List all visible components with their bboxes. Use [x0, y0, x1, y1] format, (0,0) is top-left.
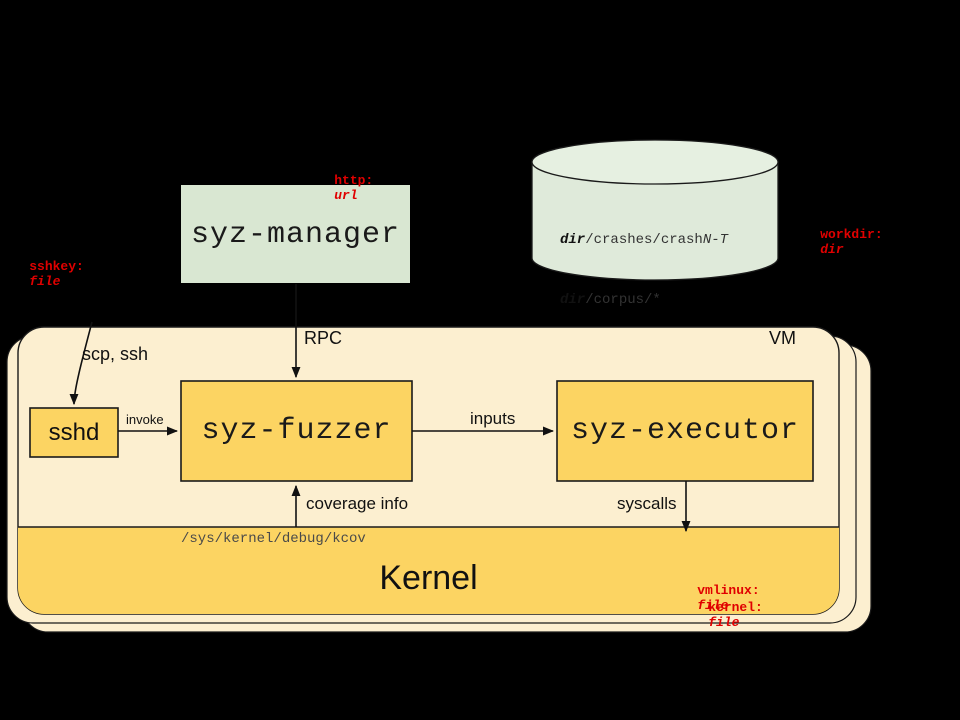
workdir-line1-italic: N-T: [703, 232, 728, 248]
kcov-path-label: /sys/kernel/debug/kcov: [181, 531, 366, 547]
annotation-sshkey-key: sshkey:: [29, 259, 84, 274]
annotation-sshkey-value: file: [29, 274, 60, 289]
workdir-line2-rest: /corpus/*: [585, 292, 661, 308]
syz-manager-box[interactable]: [181, 185, 410, 283]
annotation-kernel-image-value: file: [708, 615, 739, 630]
workdir-line1-prefix: dir: [560, 232, 585, 248]
syz-executor-box[interactable]: [557, 381, 813, 481]
annotation-workdir-key: workdir:: [820, 227, 882, 242]
vm-label: VM: [769, 328, 796, 349]
annotation-workdir: workdir: dir: [789, 212, 883, 272]
edge-label-invoke: invoke: [126, 412, 164, 427]
diagram-canvas: syz-manager dir/crashes/crashN-T dir/cor…: [0, 0, 960, 720]
syz-fuzzer-box[interactable]: [181, 381, 412, 481]
workdir-contents: dir/crashes/crashN-T dir/corpus/*: [560, 190, 728, 350]
annotation-workdir-value: dir: [820, 242, 843, 257]
annotation-http-key: http:: [334, 173, 373, 188]
edge-label-scp-ssh: scp, ssh: [82, 344, 148, 365]
annotation-http-value: url: [334, 188, 357, 203]
edge-label-syscalls: syscalls: [617, 494, 677, 514]
edge-label-rpc: RPC: [304, 328, 342, 349]
annotation-sshkey: sshkey: file: [0, 244, 84, 304]
workdir-line1-rest: /crashes/crash: [585, 232, 703, 248]
edge-label-inputs: inputs: [470, 409, 515, 429]
annotation-kernel-image-key: kernel:: [708, 600, 763, 615]
sshd-label: sshd: [30, 419, 118, 447]
annotation-http: http: url: [303, 158, 373, 218]
edge-label-coverage-info: coverage info: [306, 494, 408, 514]
workdir-line2-prefix: dir: [560, 292, 585, 308]
kernel-title: Kernel: [18, 559, 839, 598]
